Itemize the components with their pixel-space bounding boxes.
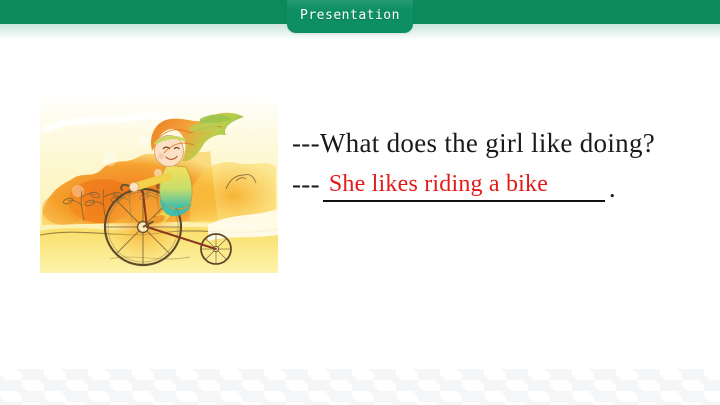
slide-section-title: Presentation — [287, 0, 413, 33]
answer-period: . — [609, 175, 616, 202]
girl-on-bicycle-illustration — [40, 93, 278, 273]
bokeh-2 — [103, 152, 117, 166]
bokeh-1 — [139, 136, 149, 146]
girl-dress — [160, 165, 192, 208]
footer-checker-pattern — [0, 369, 720, 405]
foliage-blotch-3 — [42, 193, 86, 225]
answer-text: She likes riding a bike — [329, 171, 548, 197]
girl-blush — [158, 153, 164, 159]
question-line: ---What does the girl like doing? — [292, 128, 702, 159]
presentation-slide: Presentation — [0, 0, 720, 405]
header-title-tab: Presentation — [287, 0, 413, 33]
question-answer-block: ---What does the girl like doing? --- Sh… — [292, 128, 702, 202]
answer-line: --- She likes riding a bike . — [292, 171, 702, 202]
girl-hand — [129, 182, 138, 191]
answer-dash-prefix: --- — [292, 171, 320, 198]
answer-blank-underline: She likes riding a bike — [323, 171, 605, 202]
bokeh-4 — [72, 185, 84, 197]
illustration-svg — [40, 93, 278, 273]
